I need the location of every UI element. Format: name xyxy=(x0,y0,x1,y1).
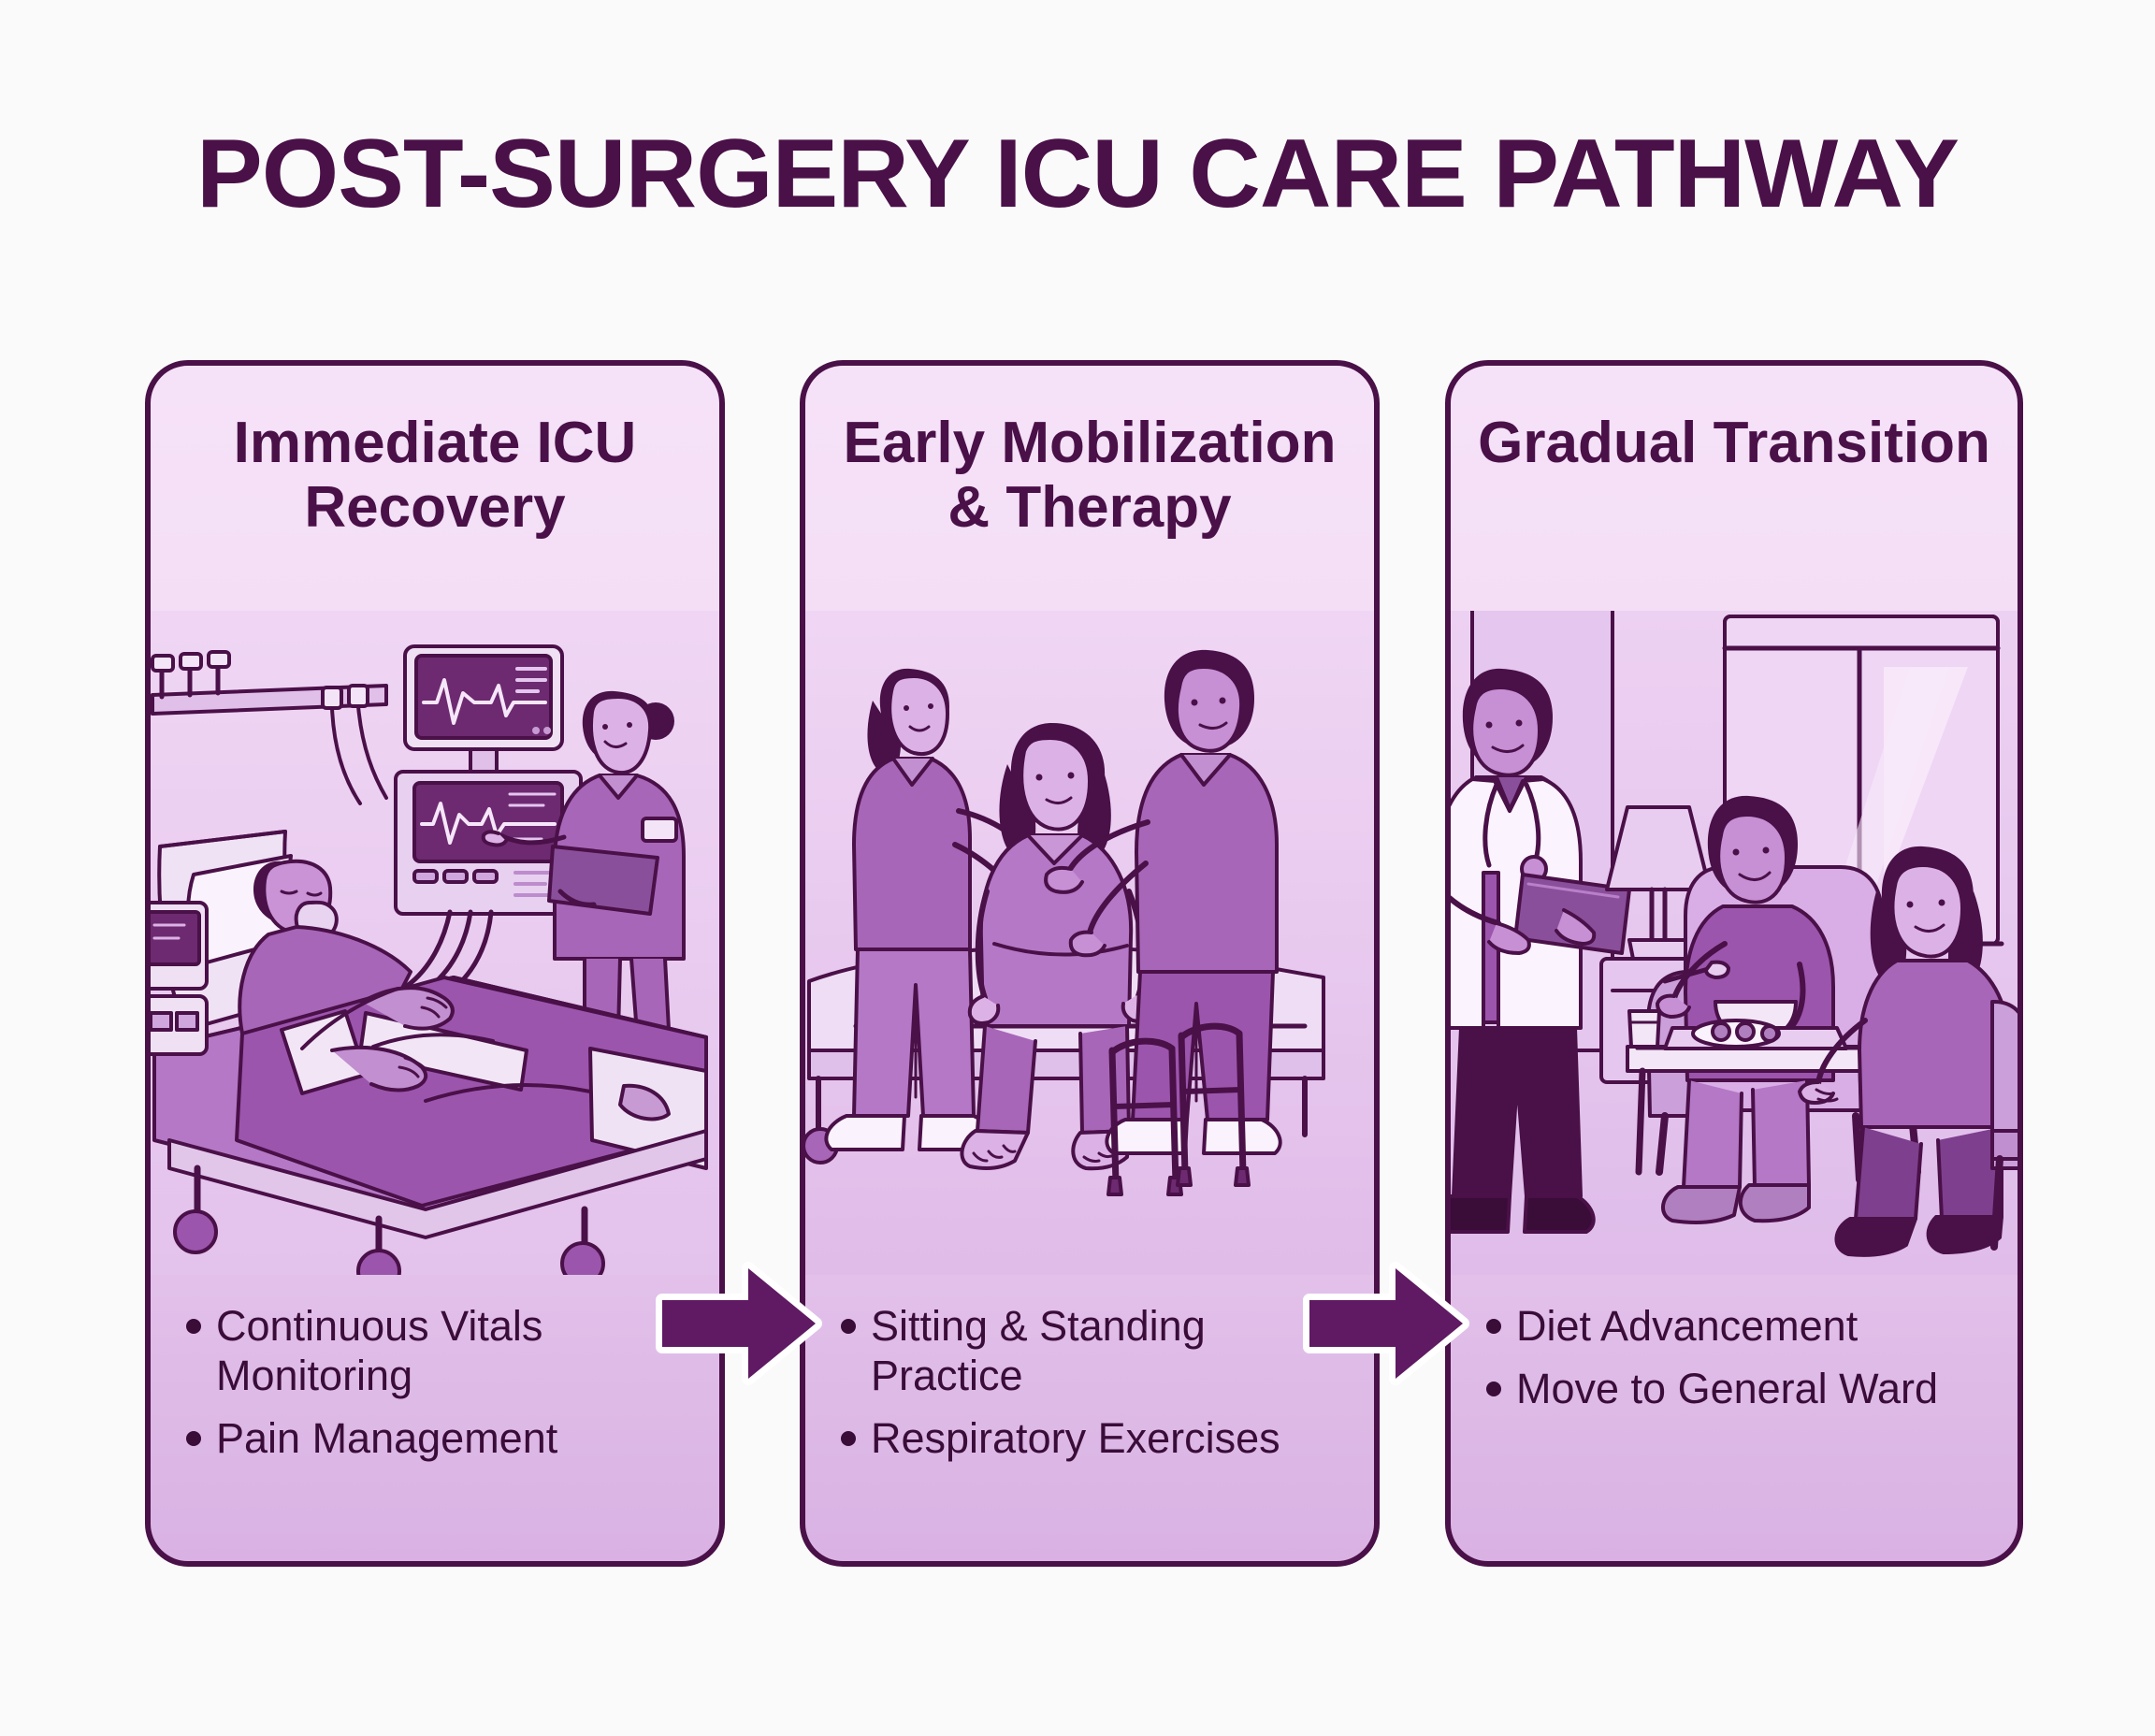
bullet-text: Diet Advancement xyxy=(1516,1301,1997,1351)
right-arrow-icon xyxy=(1309,1268,1463,1379)
list-item: Diet Advancement xyxy=(1482,1301,1997,1351)
icu-bed-monitoring-illustration xyxy=(151,611,719,1275)
doctor-rounds-meal-illustration xyxy=(1451,611,2018,1275)
stage-card-early-mobilization-therapy[interactable]: Early Mobilization & Therapy xyxy=(800,360,1380,1567)
bullet-dot-icon xyxy=(186,1319,201,1334)
bullet-text: Move to General Ward xyxy=(1516,1364,1997,1413)
bullet-dot-icon xyxy=(841,1319,856,1334)
bullet-text: Pain Management xyxy=(216,1413,699,1463)
list-item: Respiratory Exercises xyxy=(837,1413,1353,1463)
list-item: Pain Management xyxy=(182,1413,699,1463)
stage-title: Immediate ICU Recovery xyxy=(151,411,719,541)
list-item: Sitting & Standing Practice xyxy=(837,1301,1353,1400)
arrow-stage1-to-stage2 xyxy=(655,1253,823,1394)
stage-title: Early Mobilization & Therapy xyxy=(805,411,1374,541)
bullet-text: Respiratory Exercises xyxy=(871,1413,1353,1463)
right-arrow-icon xyxy=(662,1268,816,1379)
stage-bullet-list: Sitting & Standing Practice Respiratory … xyxy=(837,1301,1353,1476)
stage-bullet-list: Continuous Vitals Monitoring Pain Manage… xyxy=(182,1301,699,1476)
stage-card-immediate-icu-recovery[interactable]: Immediate ICU Recovery xyxy=(145,360,725,1567)
sitting-standing-therapy-illustration xyxy=(805,611,1374,1275)
stage-card-gradual-transition[interactable]: Gradual Transition xyxy=(1445,360,2023,1567)
list-item: Move to General Ward xyxy=(1482,1364,1997,1413)
stage-title: Gradual Transition xyxy=(1451,411,2018,475)
list-item: Continuous Vitals Monitoring xyxy=(182,1301,699,1400)
bullet-dot-icon xyxy=(186,1431,201,1446)
bullet-text: Continuous Vitals Monitoring xyxy=(216,1301,699,1400)
bullet-text: Sitting & Standing Practice xyxy=(871,1301,1353,1400)
bullet-dot-icon xyxy=(1486,1382,1501,1396)
stage-card-row: Immediate ICU Recovery xyxy=(0,360,2155,1567)
infographic-page: POST-SURGERY ICU CARE PATHWAY Immediate … xyxy=(0,0,2155,1736)
arrow-stage2-to-stage3 xyxy=(1302,1253,1470,1394)
bullet-dot-icon xyxy=(1486,1319,1501,1334)
page-title: POST-SURGERY ICU CARE PATHWAY xyxy=(0,123,2155,225)
stage-bullet-list: Diet Advancement Move to General Ward xyxy=(1482,1301,1997,1426)
bullet-dot-icon xyxy=(841,1431,856,1446)
